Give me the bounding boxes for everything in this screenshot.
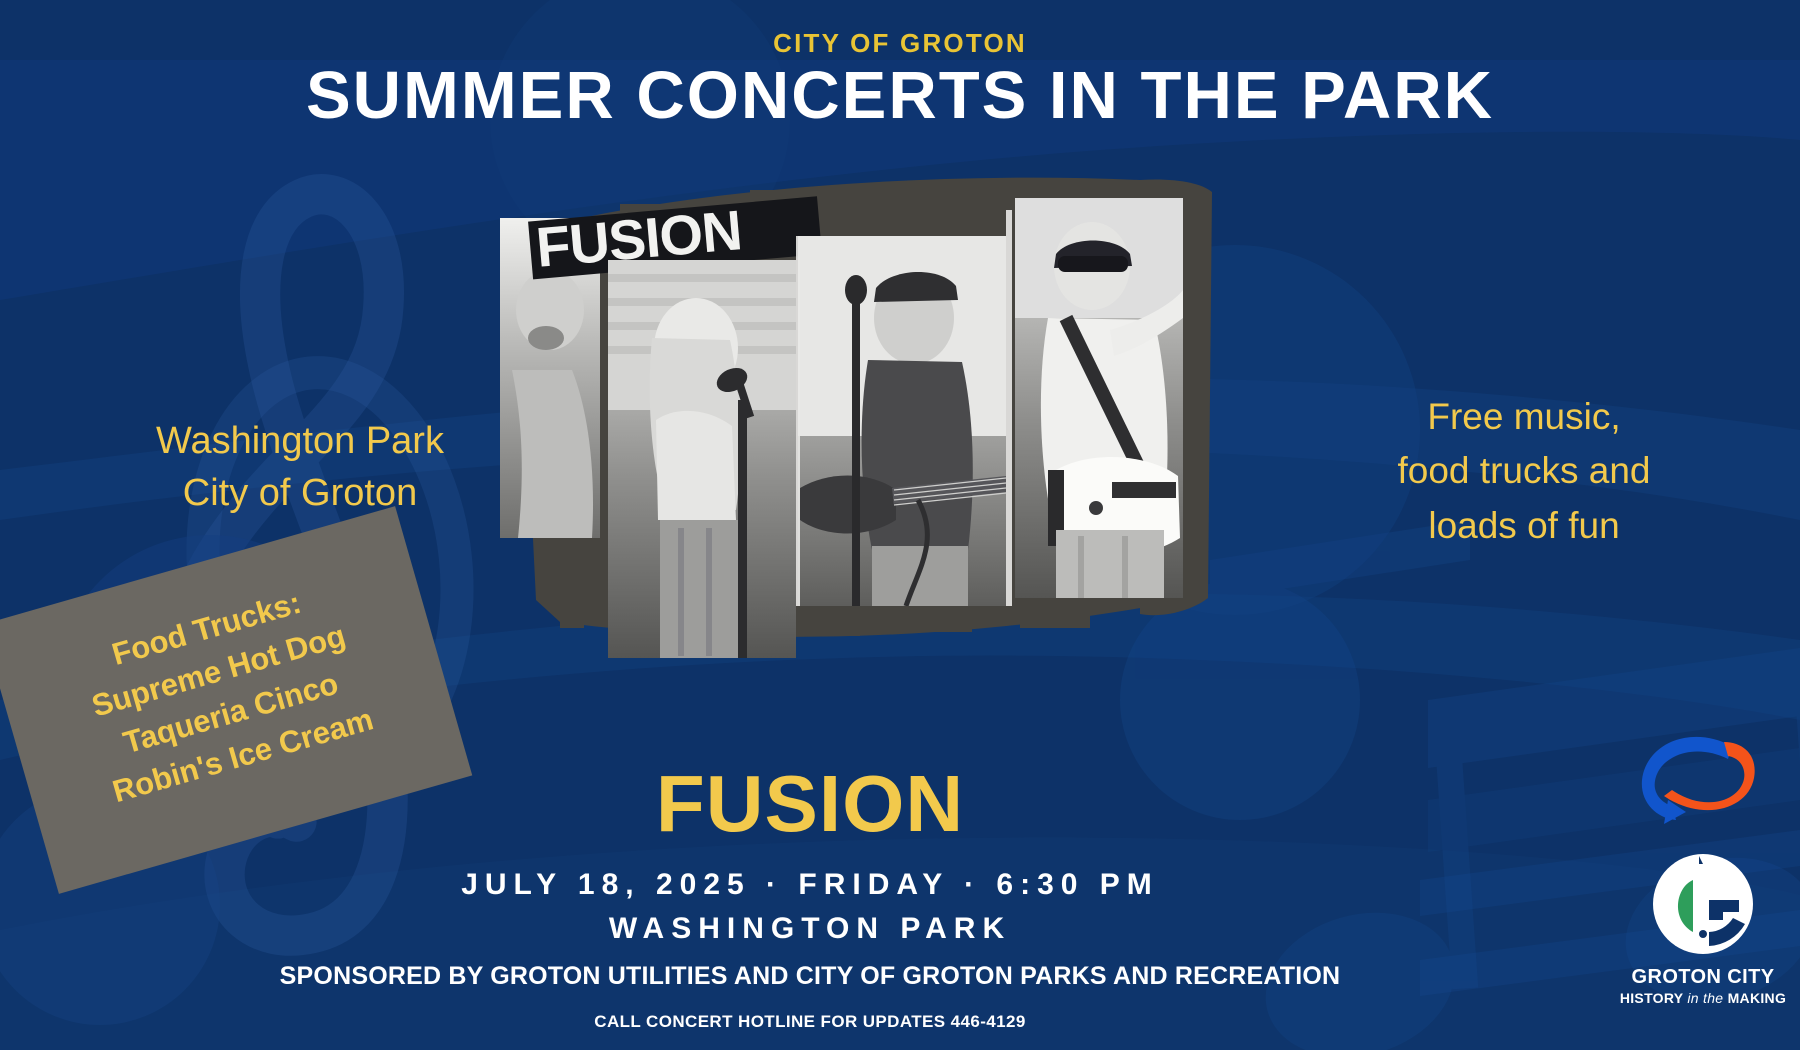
sponsor-line: SPONSORED BY GROTON UTILITIES AND CITY O… xyxy=(200,962,1420,991)
blurb-line-3: loads of fun xyxy=(1284,499,1764,553)
event-dateline: JULY 18, 2025 · FRIDAY · 6:30 PM xyxy=(330,868,1290,902)
venue-line-park: Washington Park xyxy=(40,415,560,467)
groton-utilities-logo xyxy=(1620,726,1770,836)
blurb-block: Free music, food trucks and loads of fun xyxy=(1284,390,1764,553)
concert-poster: CITY OF GROTON SUMMER CONCERTS IN THE PA… xyxy=(0,0,1800,1050)
tagline-italic: in the xyxy=(1687,990,1727,1006)
tagline-post: MAKING xyxy=(1728,990,1787,1006)
venue-block: Washington Park City of Groton xyxy=(40,415,560,520)
kicker-city-of-groton: CITY OF GROTON xyxy=(0,28,1800,59)
venue-line-city: City of Groton xyxy=(40,467,560,519)
swoosh-icon xyxy=(1642,737,1755,824)
page-title: SUMMER CONCERTS IN THE PARK xyxy=(0,57,1800,134)
band-name: FUSION xyxy=(430,758,1190,850)
event-location: WASHINGTON PARK xyxy=(330,912,1290,946)
hotline-line: CALL CONCERT HOTLINE FOR UPDATES 446-412… xyxy=(300,1012,1320,1032)
groton-city-tagline: HISTORY in the MAKING xyxy=(1613,990,1793,1006)
groton-city-name: GROTON CITY xyxy=(1613,966,1793,989)
blurb-line-2: food trucks and xyxy=(1284,444,1764,498)
band-photo-collage: FUSION xyxy=(500,170,1260,690)
groton-city-logo: GROTON CITY HISTORY in the MAKING xyxy=(1613,848,1793,1028)
groton-city-mark-icon xyxy=(1613,848,1793,966)
blurb-line-1: Free music, xyxy=(1284,390,1764,444)
tagline-pre: HISTORY xyxy=(1620,990,1688,1006)
